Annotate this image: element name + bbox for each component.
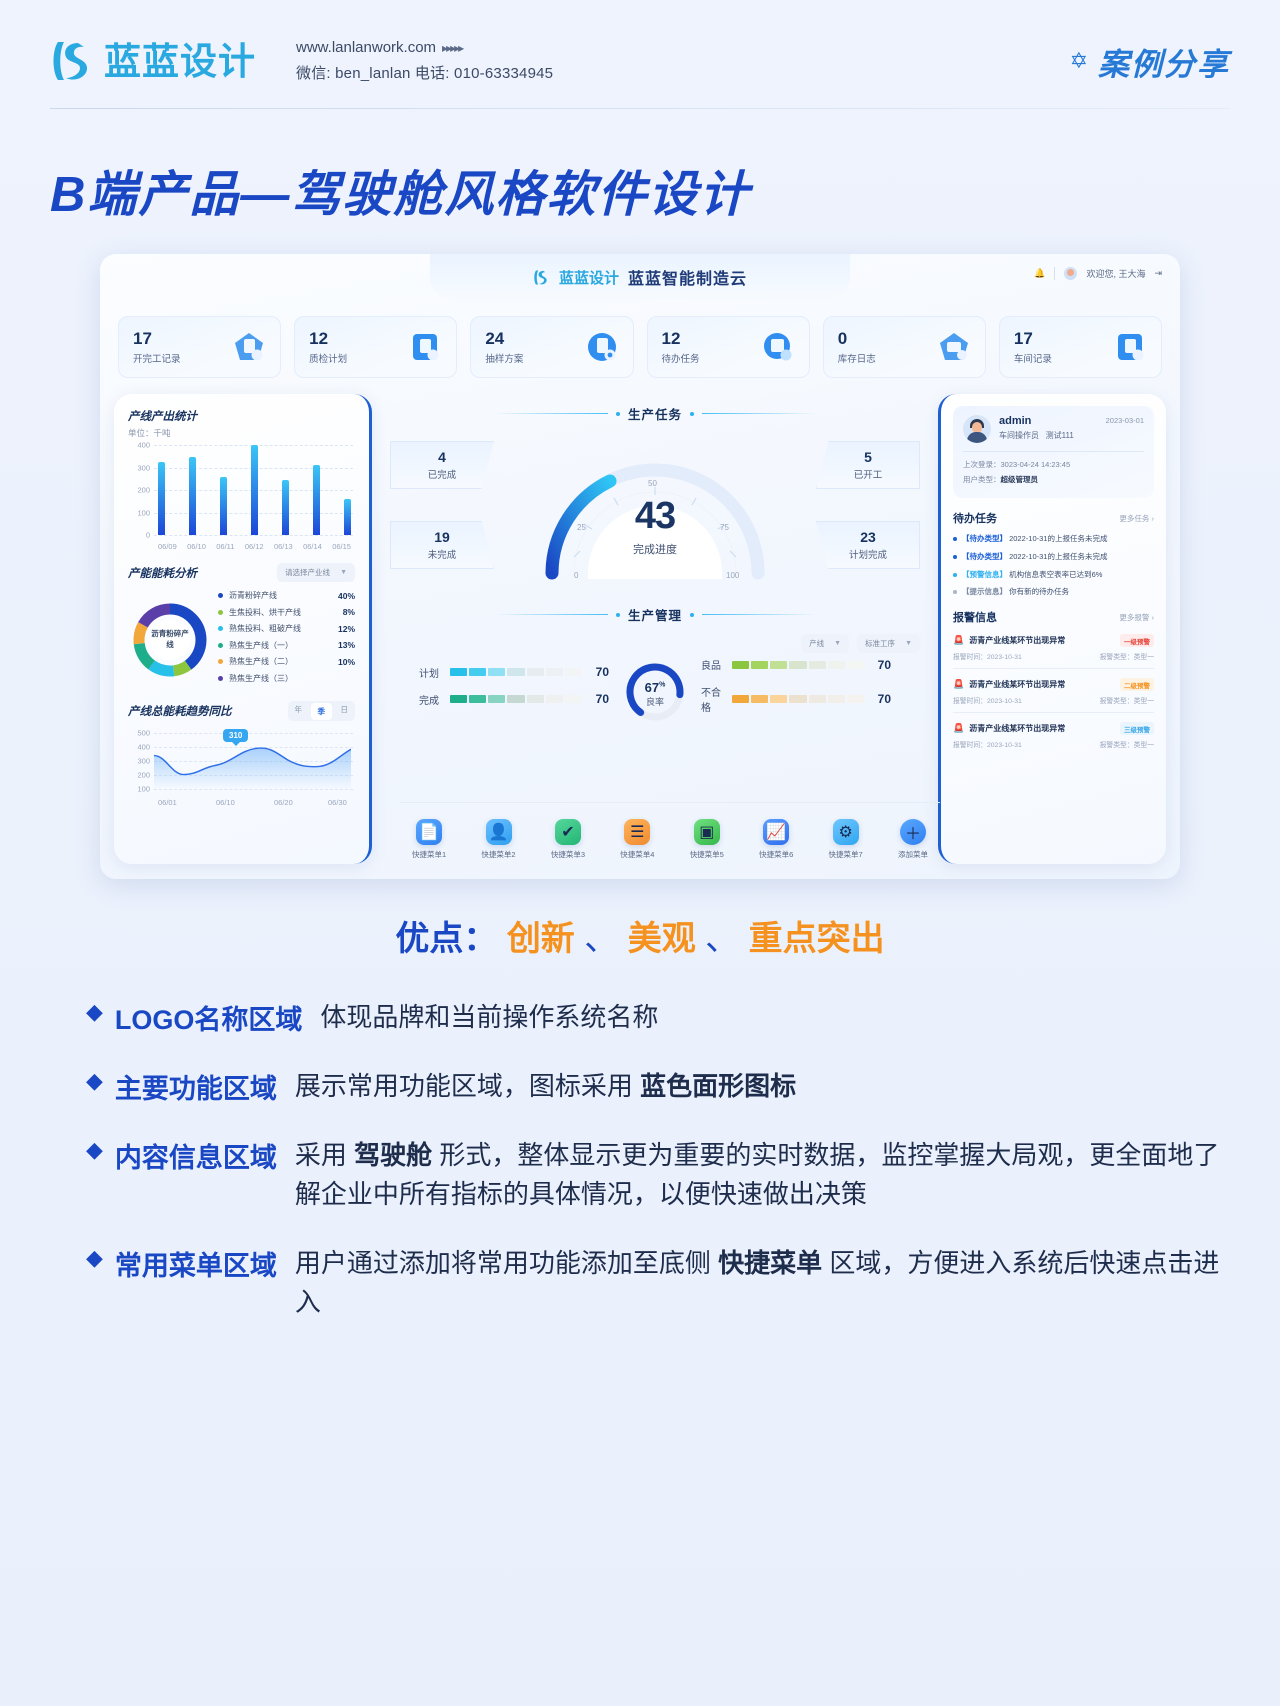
standard-process-select[interactable]: 标准工序 ▼ (857, 634, 920, 653)
page-title: B端产品—驾驶舱风格软件设计 (50, 155, 1230, 226)
quick-menu-bar: 📄快捷菜单1 👤快捷菜单2 ✔快捷菜单3 ☰快捷菜单4 ▣快捷菜单5 📈快捷菜单… (400, 807, 940, 871)
advantages-line: 优点： 创新 、 美观 、 重点突出 (50, 911, 1230, 960)
user-role: 车间操作员 测试111 (999, 430, 1074, 441)
kpi-label: 质检计划 (309, 351, 347, 365)
gauge-value: 43 (530, 495, 780, 538)
poster-page: 蓝蓝设计 www.lanlanwork.com▸▸▸▸▸ 微信: ben_lan… (0, 0, 1280, 1706)
bullet-function-area: ◆ 主要功能区域 展示常用功能区域，图标采用 蓝色面形图标 (86, 1067, 1220, 1106)
metric-row: 完成 70 (419, 692, 609, 707)
legend-item: 熟焦投料、粗破产线12% (218, 623, 355, 634)
energy-legend: 沥青粉碎产线40% 生焦投料、烘干产线8% 熟焦投料、粗破产线12% 熟焦生产线… (218, 590, 355, 689)
stat-planned: 23 计划完成 (816, 521, 920, 569)
brand-bar: 蓝蓝设计 www.lanlanwork.com▸▸▸▸▸ 微信: ben_lan… (50, 0, 1230, 108)
x-tick: 06/20 (274, 798, 293, 807)
bar (220, 477, 227, 535)
doc-icon: 📄 (416, 819, 442, 845)
kpi-card[interactable]: 12待办任务 (647, 316, 810, 378)
bar (251, 445, 258, 535)
alarm-title: 报警信息 (953, 609, 997, 625)
x-tick: 06/13 (274, 542, 293, 551)
kpi-card[interactable]: 17开完工记录 (118, 316, 281, 378)
quick-menu-item[interactable]: ☰快捷菜单4 (620, 819, 654, 860)
kpi-label: 抽样方案 (485, 351, 523, 365)
logout-icon[interactable]: ⇥ (1154, 268, 1162, 279)
arrows-icon: ▸▸▸▸▸ (442, 41, 462, 55)
bullet-key: 内容信息区域 (115, 1136, 277, 1175)
trend-range-toggle[interactable]: 年 季 日 (288, 701, 356, 721)
task-gauge-area: 4 已完成 5 已开工 19 未完成 23 计划完成 (390, 429, 920, 599)
case-share-text: 案例分享 (1098, 39, 1230, 84)
chevron-down-icon: ▼ (834, 640, 841, 647)
kpi-label: 库存日志 (838, 351, 876, 365)
donut-center-label: 沥青粉碎产线 (150, 620, 190, 660)
select-value: 请选择产业线 (285, 567, 330, 578)
x-tick: 06/01 (158, 798, 177, 807)
y-tick: 0 (146, 531, 150, 540)
database-search-icon (585, 330, 619, 364)
check-icon: ✔ (555, 819, 581, 845)
energy-header: 产能能耗分析 请选择产业线 ▼ (128, 563, 355, 582)
gauge-tick: 0 (574, 571, 578, 580)
segmented-bar (450, 695, 582, 703)
kpi-value: 0 (838, 329, 876, 349)
lanlan-logo: 蓝蓝设计 (50, 38, 256, 84)
contact-block: www.lanlanwork.com▸▸▸▸▸ 微信: ben_lanlan 电… (296, 35, 553, 88)
user-name: admin (999, 415, 1074, 427)
diamond-icon: ◆ (86, 1067, 103, 1095)
energy-chart-title: 产能能耗分析 (128, 565, 197, 581)
alarm-header: 报警信息 更多报警 › (953, 609, 1154, 625)
chevron-down-icon: ▼ (340, 569, 347, 576)
bar (158, 462, 165, 535)
segmented-bar (732, 661, 864, 669)
y-tick: 400 (128, 743, 150, 752)
alarm-item[interactable]: 🚨 沥青产业线某环节出现异常 三级预警 报警时间：2023-10-31报警类型：… (953, 722, 1154, 749)
todo-title: 待办任务 (953, 510, 997, 526)
user-type-row: 用户类型：超级管理员 (963, 474, 1144, 485)
todo-item[interactable]: 【待办类型】 2022-10-31的上报任务未完成 (953, 552, 1154, 562)
bullet-key: 主要功能区域 (115, 1067, 277, 1106)
bar-x-axis: 06/09 06/10 06/11 06/12 06/13 06/14 06/1… (158, 542, 351, 551)
case-share-badge: ✡ 案例分享 (1070, 39, 1230, 84)
kpi-label: 开完工记录 (133, 351, 181, 365)
bullet-menu-area: ◆ 常用菜单区域 用户通过添加将常用功能添加至底侧 快捷菜单 区域，方便进入系统… (86, 1244, 1220, 1322)
bullet-text: 用户通过添加将常用功能添加至底侧 快捷菜单 区域，方便进入系统后快速点击进入 (295, 1244, 1220, 1322)
metric-row: 计划 70 (419, 665, 609, 680)
status-badge: 三级预警 (1120, 722, 1154, 735)
x-tick: 06/10 (216, 798, 235, 807)
dashboard-product-name: 蓝蓝智能制造云 (628, 265, 747, 289)
kpi-card[interactable]: 12质检计划 (294, 316, 457, 378)
alarm-bell-icon: 🚨 (953, 679, 964, 690)
kpi-label: 待办任务 (662, 351, 700, 365)
user-icon: 👤 (486, 819, 512, 845)
stat-started: 5 已开工 (816, 441, 920, 489)
trend-tooltip: 310 (223, 729, 248, 742)
legend-item: 熟焦生产线（三） (218, 673, 355, 684)
bullet-key: 常用菜单区域 (115, 1244, 277, 1283)
logo-text: 蓝蓝设计 (104, 43, 256, 80)
energy-donut-chart: 沥青粉碎产线 (128, 598, 212, 682)
dashboard-toolbar: 🔔 欢迎您, 王大海 ⇥ (1034, 267, 1162, 280)
star-icon: ✡ (1070, 48, 1088, 74)
kpi-value: 24 (485, 329, 523, 349)
stat-uncompleted: 19 未完成 (390, 521, 494, 569)
advantages-key: 优点： (395, 920, 497, 958)
bullet-key: LOGO名称区域 (115, 998, 303, 1037)
mgmt-metrics: 计划 70 完成 70 (390, 657, 920, 726)
alarm-more-link[interactable]: 更多报警 › (1119, 612, 1154, 623)
bullet-logo-area: ◆ LOGO名称区域 体现品牌和当前操作系统名称 (86, 998, 1220, 1037)
metric-row: 不合格 70 (701, 684, 891, 714)
kpi-value: 17 (1014, 329, 1052, 349)
bullet-text: 采用 驾驶舱 形式，整体显示更为重要的实时数据，监控掌握大局观，更全面地了解企业… (295, 1136, 1220, 1214)
trend-line (154, 733, 351, 789)
y-tick: 200 (137, 486, 150, 495)
kpi-value: 12 (309, 329, 347, 349)
add-menu-button[interactable]: ＋添加菜单 (898, 819, 928, 860)
y-tick: 200 (128, 771, 150, 780)
y-tick: 100 (128, 785, 150, 794)
status-badge: 一级预警 (1120, 634, 1154, 647)
trend-area-chart: 500 400 300 200 100 310 06/01 06/10 06/2… (128, 727, 355, 807)
quick-menu-item[interactable]: ⚙快捷菜单7 (829, 819, 863, 860)
progress-gauge: 0 25 50 75 100 43 完成进度 (530, 433, 780, 593)
alarm-item[interactable]: 🚨 沥青产业线某环节出现异常 一级预警 报警时间：2023-10-31报警类型：… (953, 634, 1154, 669)
legend-item: 熟焦生产线（一）13% (218, 640, 355, 651)
bullet-content-area: ◆ 内容信息区域 采用 驾驶舱 形式，整体显示更为重要的实时数据，监控掌握大局观… (86, 1136, 1220, 1214)
legend-item: 熟焦生产线（二）10% (218, 656, 355, 667)
segment-quarter[interactable]: 季 (311, 703, 333, 720)
diamond-icon: ◆ (86, 1136, 103, 1164)
mini-logo-icon (533, 269, 550, 286)
legend-item: 沥青粉碎产线40% (218, 590, 355, 601)
todo-more-link[interactable]: 更多任务 › (1119, 513, 1154, 524)
segment-year[interactable]: 年 (288, 701, 310, 721)
dashboard-preview: 蓝蓝设计 蓝蓝智能制造云 🔔 欢迎您, 王大海 ⇥ 17开完工记录 12质检计划… (100, 254, 1180, 879)
segmented-bar (732, 695, 864, 703)
bar-y-axis: 400 300 200 100 0 (128, 445, 152, 535)
bar (282, 480, 289, 535)
x-tick: 06/14 (303, 542, 322, 551)
mgmt-filters: 产线 ▼ 标准工序 ▼ (390, 634, 920, 653)
stat-completed: 4 已完成 (390, 441, 494, 489)
trend-header: 产线总能耗趋势同比 年 季 日 (128, 701, 355, 721)
kpi-label: 车间记录 (1014, 351, 1052, 365)
plus-icon: ＋ (900, 819, 926, 845)
production-task-section-title: 生产任务 (390, 404, 920, 423)
dashboard-brand: 蓝蓝设计 (559, 267, 619, 288)
kpi-row: 17开完工记录 12质检计划 24抽样方案 12待办任务 0库存日志 17车间记… (118, 316, 1162, 378)
quick-menu-item[interactable]: 📄快捷菜单1 (412, 819, 446, 860)
avatar[interactable] (1064, 267, 1077, 280)
advantage-1: 创新 (507, 920, 575, 958)
header-divider (50, 108, 1230, 109)
quick-menu-item[interactable]: 👤快捷菜单2 (481, 819, 515, 860)
bullet-text: 展示常用功能区域，图标采用 蓝色面形图标 (295, 1067, 796, 1106)
metric-row: 良品 70 (701, 657, 891, 672)
box-icon: ▣ (694, 819, 720, 845)
contact-line: 微信: ben_lanlan 电话: 010-63334945 (296, 61, 553, 87)
bar (344, 499, 351, 535)
shield-user-icon (408, 330, 442, 364)
list-icon: ☰ (624, 819, 650, 845)
output-chart-unit: 单位：千吨 (128, 427, 355, 439)
select-value: 产线 (809, 638, 824, 649)
alarm-bell-icon: 🚨 (953, 723, 964, 734)
segmented-bar (450, 668, 582, 676)
section-label: 生产任务 (628, 404, 682, 423)
mgmt-right-metrics: 良品 70 不合格 70 (701, 657, 891, 726)
x-tick: 06/15 (332, 542, 351, 551)
select-value: 标准工序 (865, 638, 895, 649)
bell-icon[interactable]: 🔔 (1034, 268, 1045, 279)
center-panel: 生产任务 4 已完成 5 已开工 19 未完成 (380, 394, 930, 864)
alarm-item[interactable]: 🚨 沥青产业线某环节出现异常 二级预警 报警时间：2023-10-31报警类型：… (953, 678, 1154, 713)
kpi-card[interactable]: 0库存日志 (823, 316, 986, 378)
y-tick: 400 (137, 441, 150, 450)
bullet-text: 体现品牌和当前操作系统名称 (320, 998, 658, 1037)
dashboard-body: 产线产出统计 单位：千吨 400 300 200 100 0 (114, 394, 1166, 864)
y-tick: 500 (128, 729, 150, 738)
document-edit-icon (232, 330, 266, 364)
welcome-text: 欢迎您, 王大海 (1086, 267, 1145, 280)
legend-item: 生焦投料、烘干产线8% (218, 607, 355, 618)
production-line-select[interactable]: 产线 ▼ (801, 634, 849, 653)
gauge-tick: 100 (726, 571, 739, 580)
mgmt-left-metrics: 计划 70 完成 70 (419, 665, 609, 719)
chart-icon: 📈 (763, 819, 789, 845)
advantage-3: 重点突出 (749, 920, 885, 958)
y-tick: 300 (137, 463, 150, 472)
x-tick: 06/12 (245, 542, 264, 551)
user-card: 2023-03-01 admin 车间操作员 测试111 上次登录：3023-0… (953, 406, 1154, 498)
bar (313, 465, 320, 535)
ring-label: 良率 (623, 695, 687, 708)
ring-value: 67% (623, 680, 687, 695)
quick-menu-item[interactable]: 📈快捷菜单6 (759, 819, 793, 860)
x-tick: 06/30 (328, 798, 347, 807)
y-tick: 300 (128, 757, 150, 766)
kpi-card[interactable]: 24抽样方案 (470, 316, 633, 378)
trend-chart-title: 产线总能耗趋势同比 (128, 703, 232, 719)
quick-menu-divider (400, 802, 940, 803)
todo-item[interactable]: 【预警信息】 机构信息表空表率已达到6% (953, 570, 1154, 580)
kpi-value: 12 (662, 329, 700, 349)
user-date: 2023-03-01 (1106, 416, 1144, 425)
advantage-2: 美观 (628, 920, 696, 958)
diamond-icon: ◆ (86, 1244, 103, 1272)
toolbar-divider (1054, 267, 1055, 280)
diamond-icon: ◆ (86, 998, 103, 1026)
last-login-row: 上次登录：3023-04-24 14:23:45 (963, 459, 1144, 470)
todo-item[interactable]: 【提示信息】 你有新的待办任务 (953, 587, 1154, 597)
quick-menu-item[interactable]: ✔快捷菜单3 (551, 819, 585, 860)
website-text: www.lanlanwork.com (296, 39, 436, 56)
x-tick: 06/10 (187, 542, 206, 551)
left-panel: 产线产出统计 单位：千吨 400 300 200 100 0 (114, 394, 372, 864)
gauge-tick: 50 (648, 479, 657, 488)
bar (189, 457, 196, 535)
quick-menu-item[interactable]: ▣快捷菜单5 (690, 819, 724, 860)
gear-icon: ⚙ (833, 819, 859, 845)
todo-item[interactable]: 【待办类型】 2022-10-31的上报任务未完成 (953, 534, 1154, 544)
todo-header: 待办任务 更多任务 › (953, 510, 1154, 526)
mail-box-icon (937, 330, 971, 364)
kpi-card[interactable]: 17车间记录 (999, 316, 1162, 378)
x-tick: 06/09 (158, 542, 177, 551)
kpi-value: 17 (133, 329, 181, 349)
y-tick: 100 (137, 508, 150, 517)
logo-mark-icon (50, 38, 96, 84)
dashboard-header: 蓝蓝设计 蓝蓝智能制造云 (430, 254, 850, 300)
calendar-clock-icon (761, 330, 795, 364)
industry-line-select[interactable]: 请选择产业线 ▼ (277, 563, 355, 582)
right-panel: 2023-03-01 admin 车间操作员 测试111 上次登录：3023-0… (938, 394, 1166, 864)
bullet-list: ◆ LOGO名称区域 体现品牌和当前操作系统名称 ◆ 主要功能区域 展示常用功能… (50, 998, 1230, 1322)
bar-series (158, 445, 351, 535)
yield-ring-chart: 67% 良率 (623, 660, 687, 724)
production-mgmt-section-title: 生产管理 (390, 605, 920, 624)
chevron-down-icon: ▼ (905, 640, 912, 647)
file-add-icon (1113, 330, 1147, 364)
avatar (963, 415, 991, 443)
section-label: 生产管理 (628, 605, 682, 624)
energy-donut-block: 沥青粉碎产线 沥青粉碎产线40% 生焦投料、烘干产线8% 熟焦投料、粗破产线12… (128, 590, 355, 689)
output-chart-title: 产线产出统计 (128, 408, 355, 424)
alarm-bell-icon: 🚨 (953, 635, 964, 646)
output-bar-chart: 400 300 200 100 0 (128, 445, 355, 551)
gauge-label: 完成进度 (530, 541, 780, 557)
x-tick: 06/11 (216, 542, 234, 551)
status-badge: 二级预警 (1120, 678, 1154, 691)
segment-day[interactable]: 日 (334, 701, 356, 721)
